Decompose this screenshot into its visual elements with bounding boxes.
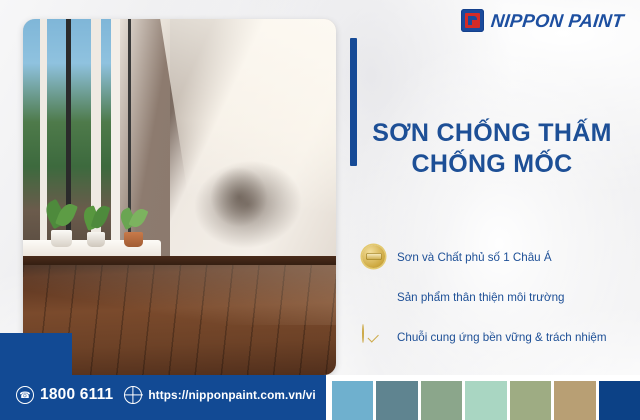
plant-icon	[117, 207, 151, 247]
feature-list: Sơn và Chất phủ số 1 Châu Á Sản phẩm thâ…	[362, 245, 634, 349]
gold-shield-icon	[362, 285, 386, 309]
list-item: Sản phẩm thân thiện môi trường	[362, 285, 634, 309]
footer-bar: ☎ 1800 6111 https://nipponpaint.com.vn/v…	[0, 375, 326, 420]
gold-seal-icon	[362, 245, 386, 269]
swatch-navy[interactable]	[599, 381, 640, 420]
feature-label: Chuỗi cung ứng bền vững & trách nhiệm	[397, 331, 607, 344]
color-swatch-strip	[326, 375, 640, 420]
nippon-n-mark-icon	[461, 9, 484, 32]
swatch-teal-gray[interactable]	[376, 381, 417, 420]
swatch-sage-green[interactable]	[421, 381, 462, 420]
footer-notch	[0, 333, 72, 375]
page-title: SƠN CHỐNG THẤM CHỐNG MỐC	[352, 118, 632, 179]
headline-line-1: SƠN CHỐNG THẤM	[372, 119, 611, 147]
swatch-tan[interactable]	[554, 381, 595, 420]
feature-label: Sơn và Chất phủ số 1 Châu Á	[397, 251, 552, 264]
list-item: Sơn và Chất phủ số 1 Châu Á	[362, 245, 634, 269]
website-url: https://nipponpaint.com.vn/vi	[148, 388, 315, 402]
hotline[interactable]: ☎ 1800 6111	[16, 386, 113, 404]
plant-icon	[81, 205, 113, 247]
headline-line-2: CHỐNG MỐC	[352, 149, 632, 180]
globe-icon	[124, 386, 142, 404]
hotline-number: 1800 6111	[40, 386, 113, 404]
feature-label: Sản phẩm thân thiện môi trường	[397, 291, 564, 304]
product-photo	[23, 19, 336, 375]
brand-name: NIPPON PAINT	[490, 10, 625, 32]
brand-logo: NIPPON PAINT	[461, 9, 624, 32]
phone-circle-icon: ☎	[16, 386, 34, 404]
plant-icon	[45, 201, 79, 247]
gold-check-circle-icon	[362, 325, 386, 349]
swatch-mint[interactable]	[465, 381, 506, 420]
swatch-light-blue[interactable]	[332, 381, 373, 420]
promo-banner: NIPPON PAINT SƠN	[0, 0, 640, 420]
swatch-olive[interactable]	[510, 381, 551, 420]
website-link[interactable]: https://nipponpaint.com.vn/vi	[124, 386, 315, 404]
list-item: Chuỗi cung ứng bền vững & trách nhiệm	[362, 325, 634, 349]
